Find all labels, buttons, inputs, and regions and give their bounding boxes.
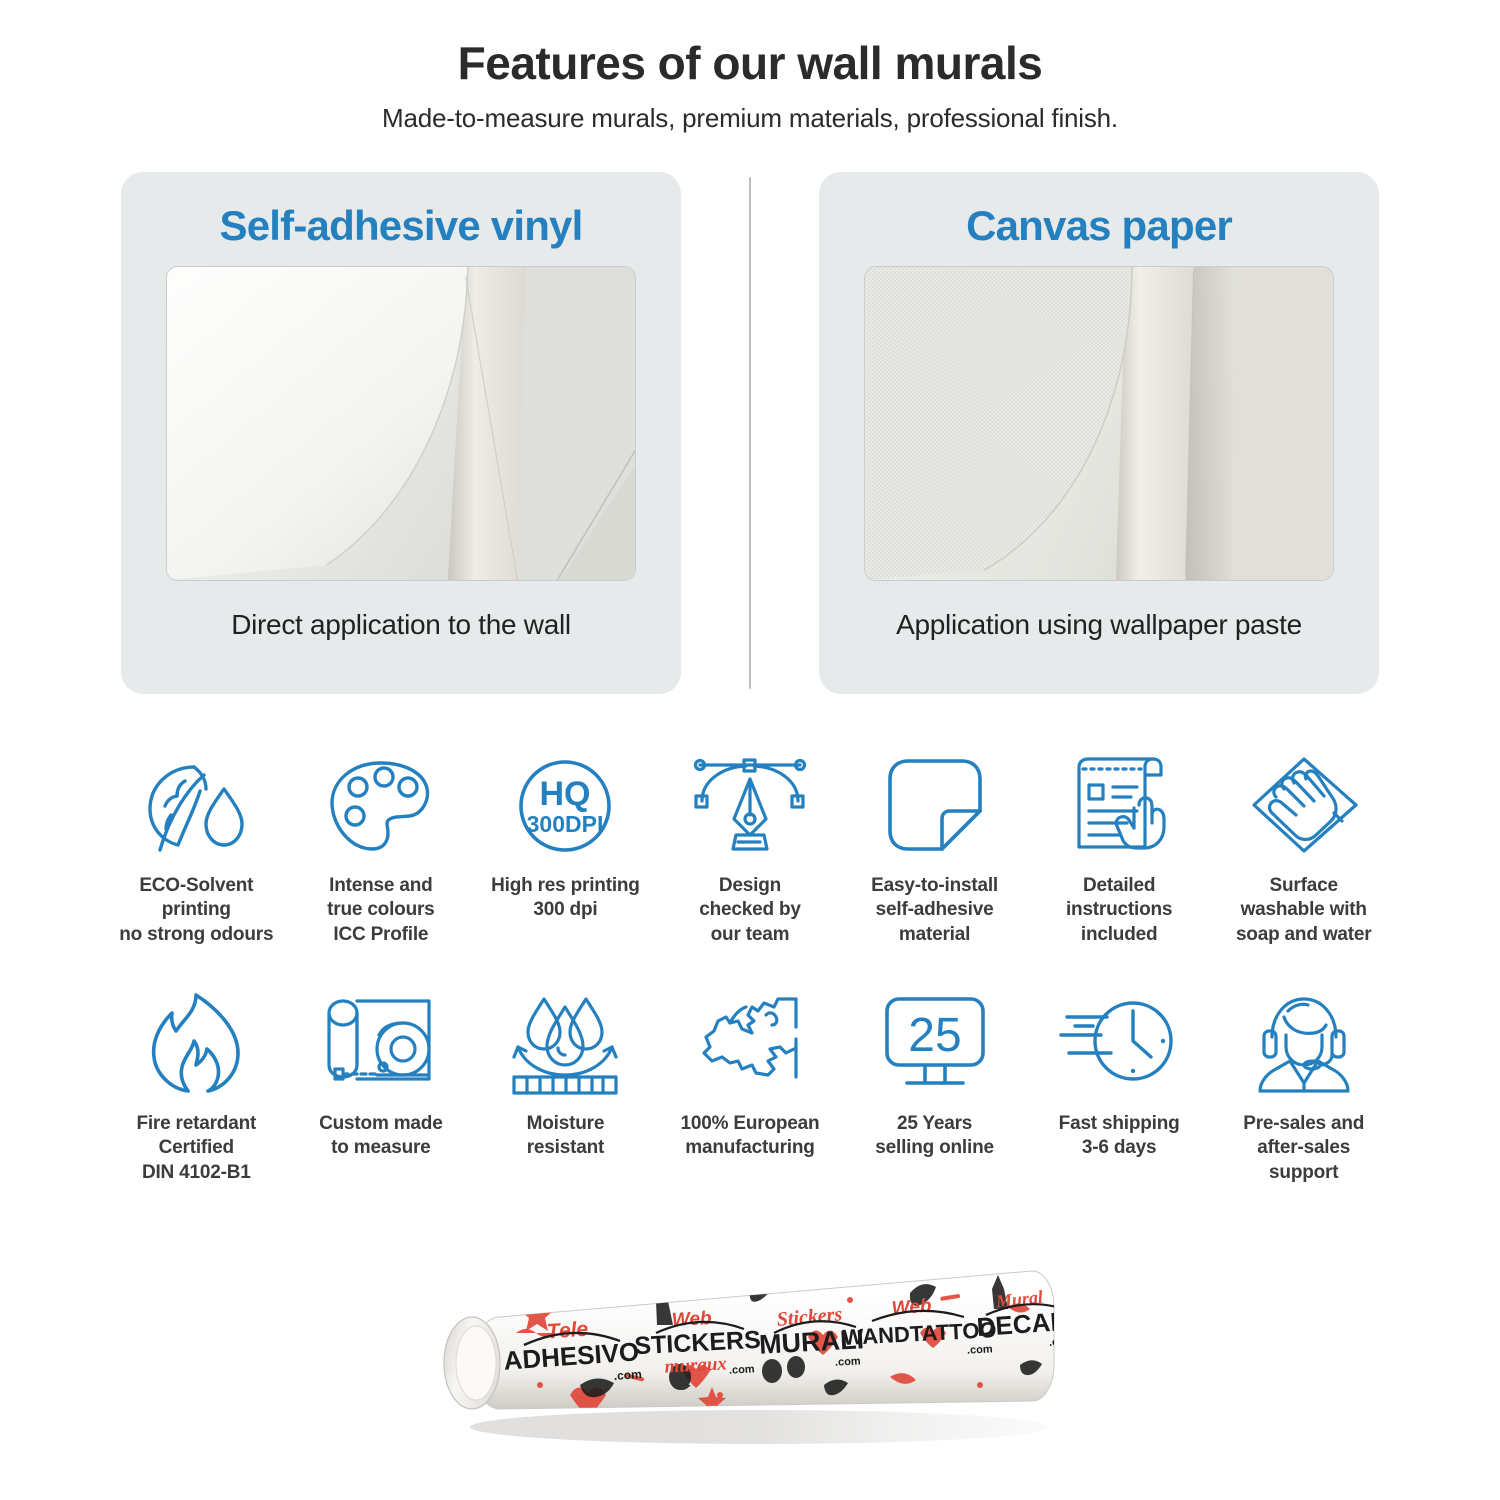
feature-label: Custom made to measure — [319, 1112, 442, 1161]
svg-text:.com: .com — [835, 1355, 861, 1368]
instructions-hand-icon — [1061, 746, 1177, 858]
header: Features of our wall murals Made-to-meas… — [0, 0, 1500, 134]
feature-easy-install: Easy-to-install self-adhesive material — [842, 746, 1027, 948]
feature-fast-shipping: Fast shipping 3-6 days — [1027, 984, 1212, 1186]
svg-text:.com: .com — [613, 1367, 642, 1383]
feature-label: 25 Years selling online — [875, 1112, 994, 1161]
panel-caption: Direct application to the wall — [231, 607, 571, 644]
monitor-25-icon: 25 — [879, 984, 991, 1096]
feature-fire-retardant: Fire retardant Certified DIN 4102-B1 — [104, 984, 289, 1186]
svg-text:.com: .com — [1049, 1335, 1076, 1349]
support-agent-headset-icon — [1246, 984, 1362, 1096]
pen-tool-bezier-icon — [688, 746, 812, 858]
vinyl-roll-photo — [166, 266, 636, 581]
shipping-tube: Tele ADHESIVO .com Web STICKERS muraux .… — [0, 1240, 1500, 1490]
feature-label: Pre-sales and after-sales support — [1243, 1112, 1364, 1186]
water-droplets-surface-icon — [504, 984, 626, 1096]
panel-canvas-paper: Canvas paper — [819, 172, 1379, 694]
svg-text:.com: .com — [729, 1363, 755, 1376]
feature-label: High res printing 300 dpi — [491, 874, 640, 923]
svg-text:.com: .com — [967, 1343, 993, 1356]
feature-25-years: 25 25 Years selling online — [842, 984, 1027, 1186]
feature-high-res: HQ 300DPI High res printing 300 dpi — [473, 746, 658, 948]
feature-instructions: Detailed instructions included — [1027, 746, 1212, 948]
feature-label: 100% European manufacturing — [681, 1112, 820, 1161]
paint-palette-icon — [322, 746, 440, 858]
feature-label: Easy-to-install self-adhesive material — [871, 874, 998, 948]
feature-label: Design checked by our team — [699, 874, 801, 948]
panel-title: Canvas paper — [966, 194, 1232, 260]
feature-label: Detailed instructions included — [1066, 874, 1172, 948]
panel-divider — [749, 177, 751, 689]
feature-label: ECO-Solvent printing no strong odours — [119, 874, 273, 948]
fast-clock-icon — [1059, 984, 1179, 1096]
hq-badge-top-text: HQ — [540, 775, 591, 813]
roll-measuring-tape-icon — [321, 984, 441, 1096]
feature-support: Pre-sales and after-sales support — [1211, 984, 1396, 1186]
monitor-years-number: 25 — [908, 1009, 961, 1062]
svg-text:Web: Web — [891, 1296, 933, 1320]
feature-design-checked: Design checked by our team — [658, 746, 843, 948]
leaf-droplet-icon — [136, 746, 256, 858]
canvas-roll-photo — [864, 266, 1334, 581]
panel-self-adhesive-vinyl: Self-adhesive vinyl — [121, 172, 681, 694]
feature-custom-made: Custom made to measure — [289, 984, 474, 1186]
feature-grid: ECO-Solvent printing no strong odours In… — [0, 746, 1500, 1186]
svg-text:muraux: muraux — [664, 1353, 728, 1377]
feature-label: Intense and true colours ICC Profile — [327, 874, 434, 948]
europe-map-icon — [690, 984, 810, 1096]
feature-true-colours: Intense and true colours ICC Profile — [289, 746, 474, 948]
feature-eco-solvent: ECO-Solvent printing no strong odours — [104, 746, 289, 948]
panel-caption: Application using wallpaper paste — [896, 607, 1302, 644]
feature-european-manufacturing: 100% European manufacturing — [658, 984, 843, 1186]
feature-label: Moisture resistant — [527, 1112, 605, 1161]
panel-title: Self-adhesive vinyl — [220, 194, 583, 260]
feature-label: Fast shipping 3-6 days — [1059, 1112, 1180, 1161]
feature-label: Fire retardant Certified DIN 4102-B1 — [136, 1112, 256, 1186]
page-subtitle: Made-to-measure murals, premium material… — [0, 103, 1500, 134]
feature-surface-washable: Surface washable with soap and water — [1211, 746, 1396, 948]
infographic-page: Features of our wall murals Made-to-meas… — [0, 0, 1500, 1500]
feature-moisture-resistant: Moisture resistant — [473, 984, 658, 1186]
page-title: Features of our wall murals — [0, 38, 1500, 89]
peeling-sticker-icon — [880, 746, 990, 858]
material-comparison: Self-adhesive vinyl — [0, 172, 1500, 694]
hq-300dpi-badge-icon: HQ 300DPI — [509, 746, 621, 858]
hand-wiping-cloth-icon — [1246, 746, 1362, 858]
hq-badge-bottom-text: 300DPI — [527, 811, 604, 837]
feature-label: Surface washable with soap and water — [1236, 874, 1372, 948]
flame-icon — [144, 984, 248, 1096]
